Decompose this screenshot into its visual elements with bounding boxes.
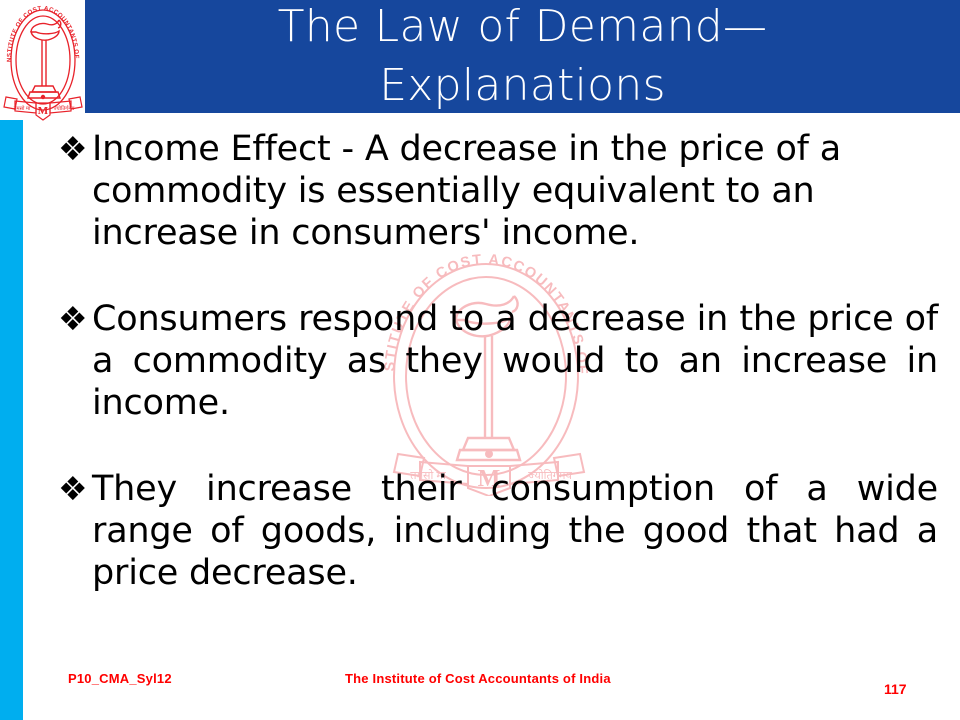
title-banner: The Law of Demand— Explanations <box>85 0 960 113</box>
page-title: The Law of Demand— Explanations <box>85 0 960 113</box>
slide-canvas: THE INSTITUTE OF COST ACCOUNTANTS OF IND… <box>0 0 960 720</box>
bullet-text: They increase their consumption of a wid… <box>92 468 938 594</box>
svg-text:THE INSTITUTE OF COST ACCOUNTA: THE INSTITUTE OF COST ACCOUNTANTS OF IND… <box>2 2 80 62</box>
bullet-diamond-icon: ❖ <box>58 128 92 170</box>
svg-text:M: M <box>38 105 49 117</box>
footer-course-code: P10_CMA_Syl12 <box>68 671 172 686</box>
bullet-list: ❖ Income Effect - A decrease in the pric… <box>58 128 938 594</box>
slide-footer: P10_CMA_Syl12 The Institute of Cost Acco… <box>0 668 960 720</box>
bullet-text: Consumers respond to a decrease in the p… <box>92 298 938 424</box>
list-item: ❖ They increase their consumption of a w… <box>58 468 938 594</box>
institute-logo-icon: THE INSTITUTE OF COST ACCOUNTANTS OF IND… <box>2 2 84 122</box>
slide-page-number: 117 <box>884 681 907 697</box>
left-accent-strip <box>0 120 23 720</box>
bullet-diamond-icon: ❖ <box>58 468 92 510</box>
list-item: ❖ Consumers respond to a decrease in the… <box>58 298 938 424</box>
svg-text:ज्योतिर्गमय: ज्योतिर्गमय <box>54 105 76 112</box>
svg-text:तमसो मा: तमसो मा <box>14 105 31 112</box>
footer-organization-name: The Institute of Cost Accountants of Ind… <box>345 671 611 686</box>
bullet-diamond-icon: ❖ <box>58 298 92 340</box>
list-item: ❖ Income Effect - A decrease in the pric… <box>58 128 938 254</box>
bullet-text: Income Effect - A decrease in the price … <box>92 128 938 254</box>
